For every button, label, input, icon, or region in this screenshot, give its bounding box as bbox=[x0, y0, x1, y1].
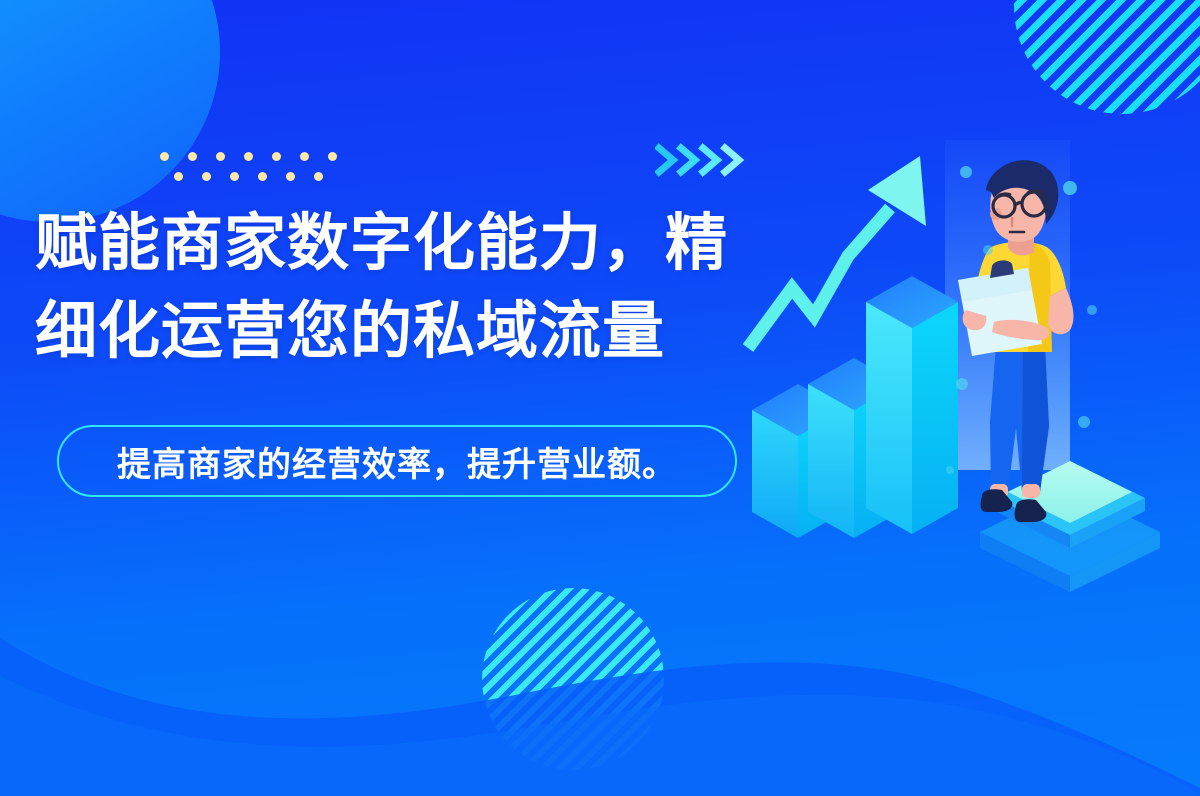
banner-copy: 赋能商家数字化能力，精 细化运营您的私域流量 bbox=[35, 200, 795, 376]
banner-subtitle-pill: 提高商家的经营效率，提升营业额。 bbox=[57, 425, 737, 497]
promo-banner: 赋能商家数字化能力，精 细化运营您的私域流量 提高商家的经营效率，提升营业额。 bbox=[0, 0, 1200, 796]
hero-illustration-svg bbox=[740, 140, 1200, 620]
person-jeans-shade bbox=[1022, 346, 1049, 492]
dot-grid-decoration bbox=[160, 148, 330, 184]
hero-illustration bbox=[740, 140, 1200, 620]
striped-circle-bottom-icon bbox=[482, 588, 664, 770]
bar-chart-bar-3 bbox=[866, 276, 958, 534]
banner-subtitle-text: 提高商家的经营效率，提升营业额。 bbox=[117, 437, 677, 486]
decorative-circle-top-left bbox=[0, 0, 220, 222]
striped-circle-top-right-icon bbox=[1014, 0, 1200, 114]
banner-headline: 赋能商家数字化能力，精 细化运营您的私域流量 bbox=[35, 200, 795, 376]
